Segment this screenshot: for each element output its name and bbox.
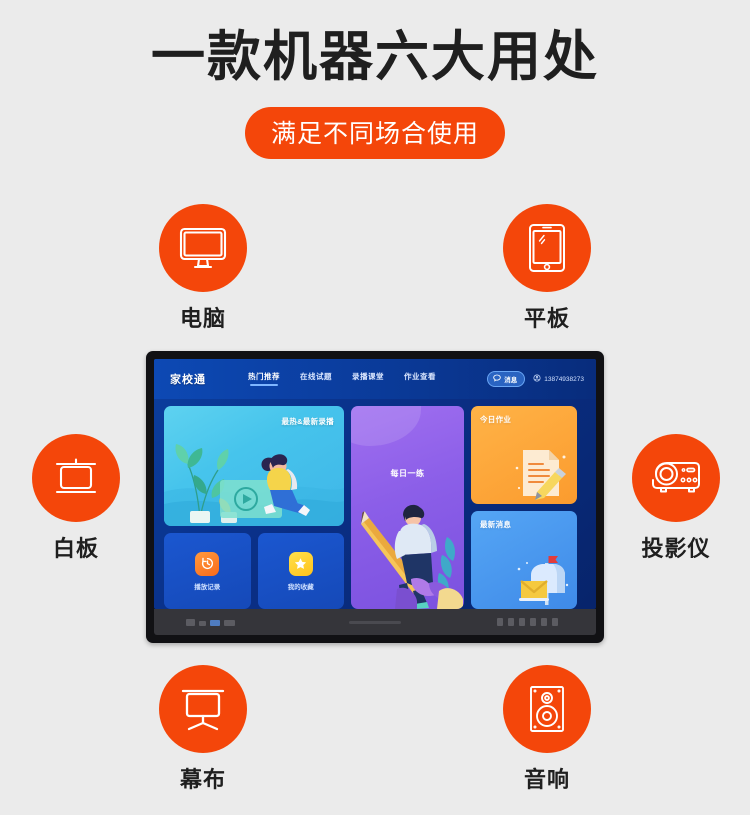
feature-projector-circle (632, 434, 720, 522)
card-hot-title: 最热&最新录播 (281, 416, 334, 427)
display-bottom-bezel (154, 609, 596, 635)
feature-projection-screen-label: 幕布 (143, 762, 263, 794)
card-news-title: 最新消息 (480, 519, 511, 530)
nav-item-exams[interactable]: 在线试题 (300, 371, 332, 386)
shortcuts-row: 播放记录 我的收藏 (164, 533, 344, 609)
feature-pc[interactable]: 电脑 (143, 204, 263, 333)
card-homework-title: 今日作业 (480, 414, 511, 425)
feature-whiteboard[interactable]: 白板 (16, 434, 136, 563)
port-icon (224, 620, 235, 626)
history-icon (195, 552, 219, 576)
tablet-icon (528, 223, 566, 273)
feature-pc-label: 电脑 (143, 301, 263, 333)
nav-right: 消息 13874938273 (487, 371, 584, 387)
projection-screen-icon (178, 685, 228, 733)
port-icon (186, 619, 195, 626)
user-circle-icon (533, 374, 541, 384)
projector-icon (648, 457, 704, 499)
decorative-blob (351, 406, 421, 446)
bezel-button-icon[interactable] (530, 618, 536, 626)
feature-projector-label: 投影仪 (616, 531, 736, 563)
feature-projector[interactable]: 投影仪 (616, 434, 736, 563)
port-icon (199, 621, 206, 626)
app-navbar: 家校通 热门推荐 在线试题 录播课堂 作业查看 消息 (154, 359, 596, 399)
button-group[interactable] (497, 618, 558, 626)
user-account[interactable]: 13874938273 (533, 374, 584, 384)
bezel-button-icon[interactable] (519, 618, 525, 626)
shortcut-favorites[interactable]: 我的收藏 (258, 533, 345, 609)
feature-projection-screen[interactable]: 幕布 (143, 665, 263, 794)
feature-tablet-circle (503, 204, 591, 292)
card-today-homework[interactable]: 今日作业 (471, 406, 577, 504)
mailbox-icon (507, 551, 571, 607)
content-right-column: 今日作业 (471, 406, 577, 609)
messages-button[interactable]: 消息 (487, 371, 525, 387)
homework-doc-icon (509, 444, 571, 502)
app-content: 最热&最新录播 播放记录 (154, 399, 596, 609)
promo-page: 一款机器六大用处 满足不同场合使用 电脑 (0, 0, 750, 815)
speaker-icon (527, 684, 567, 734)
bezel-button-icon[interactable] (541, 618, 547, 626)
monitor-icon (178, 226, 228, 270)
messages-label: 消息 (504, 374, 517, 384)
shortcut-history[interactable]: 播放记录 (164, 533, 251, 609)
port-group (186, 619, 235, 626)
whiteboard-icon (52, 455, 100, 501)
feature-speaker[interactable]: 音响 (487, 665, 607, 794)
app-logo: 家校通 (170, 371, 206, 387)
page-title: 一款机器六大用处 (0, 24, 750, 92)
bezel-button-icon[interactable] (497, 618, 503, 626)
feature-projection-screen-circle (159, 665, 247, 753)
daily-card-illustration (351, 479, 464, 609)
feature-pc-circle (159, 204, 247, 292)
content-left-column: 最热&最新录播 播放记录 (164, 406, 344, 609)
card-daily-practice[interactable]: 每日一练 (351, 406, 464, 609)
feature-whiteboard-circle (32, 434, 120, 522)
feature-tablet-label: 平板 (487, 301, 607, 333)
feature-whiteboard-label: 白板 (16, 531, 136, 563)
feature-tablet[interactable]: 平板 (487, 204, 607, 333)
port-icon (210, 620, 220, 626)
chat-bubble-icon (493, 374, 501, 384)
nav-item-hot[interactable]: 热门推荐 (248, 371, 280, 386)
card-daily-title: 每日一练 (351, 468, 464, 479)
star-icon (289, 552, 313, 576)
bezel-button-icon[interactable] (508, 618, 514, 626)
brand-strip (349, 621, 401, 624)
user-phone: 13874938273 (544, 376, 584, 383)
nav-item-classroom[interactable]: 录播课堂 (352, 371, 384, 386)
subtitle-pill: 满足不同场合使用 (245, 107, 505, 159)
display-screen: 家校通 热门推荐 在线试题 录播课堂 作业查看 消息 (154, 359, 596, 609)
nav-item-homework[interactable]: 作业查看 (404, 371, 436, 386)
card-hot-recordings[interactable]: 最热&最新录播 (164, 406, 344, 526)
bezel-button-icon[interactable] (552, 618, 558, 626)
shortcut-history-label: 播放记录 (194, 581, 220, 591)
feature-speaker-circle (503, 665, 591, 753)
card-latest-news[interactable]: 最新消息 (471, 511, 577, 609)
interactive-display: 家校通 热门推荐 在线试题 录播课堂 作业查看 消息 (146, 351, 604, 643)
nav-items: 热门推荐 在线试题 录播课堂 作业查看 (248, 371, 436, 388)
feature-speaker-label: 音响 (487, 762, 607, 794)
shortcut-favorites-label: 我的收藏 (288, 581, 314, 591)
